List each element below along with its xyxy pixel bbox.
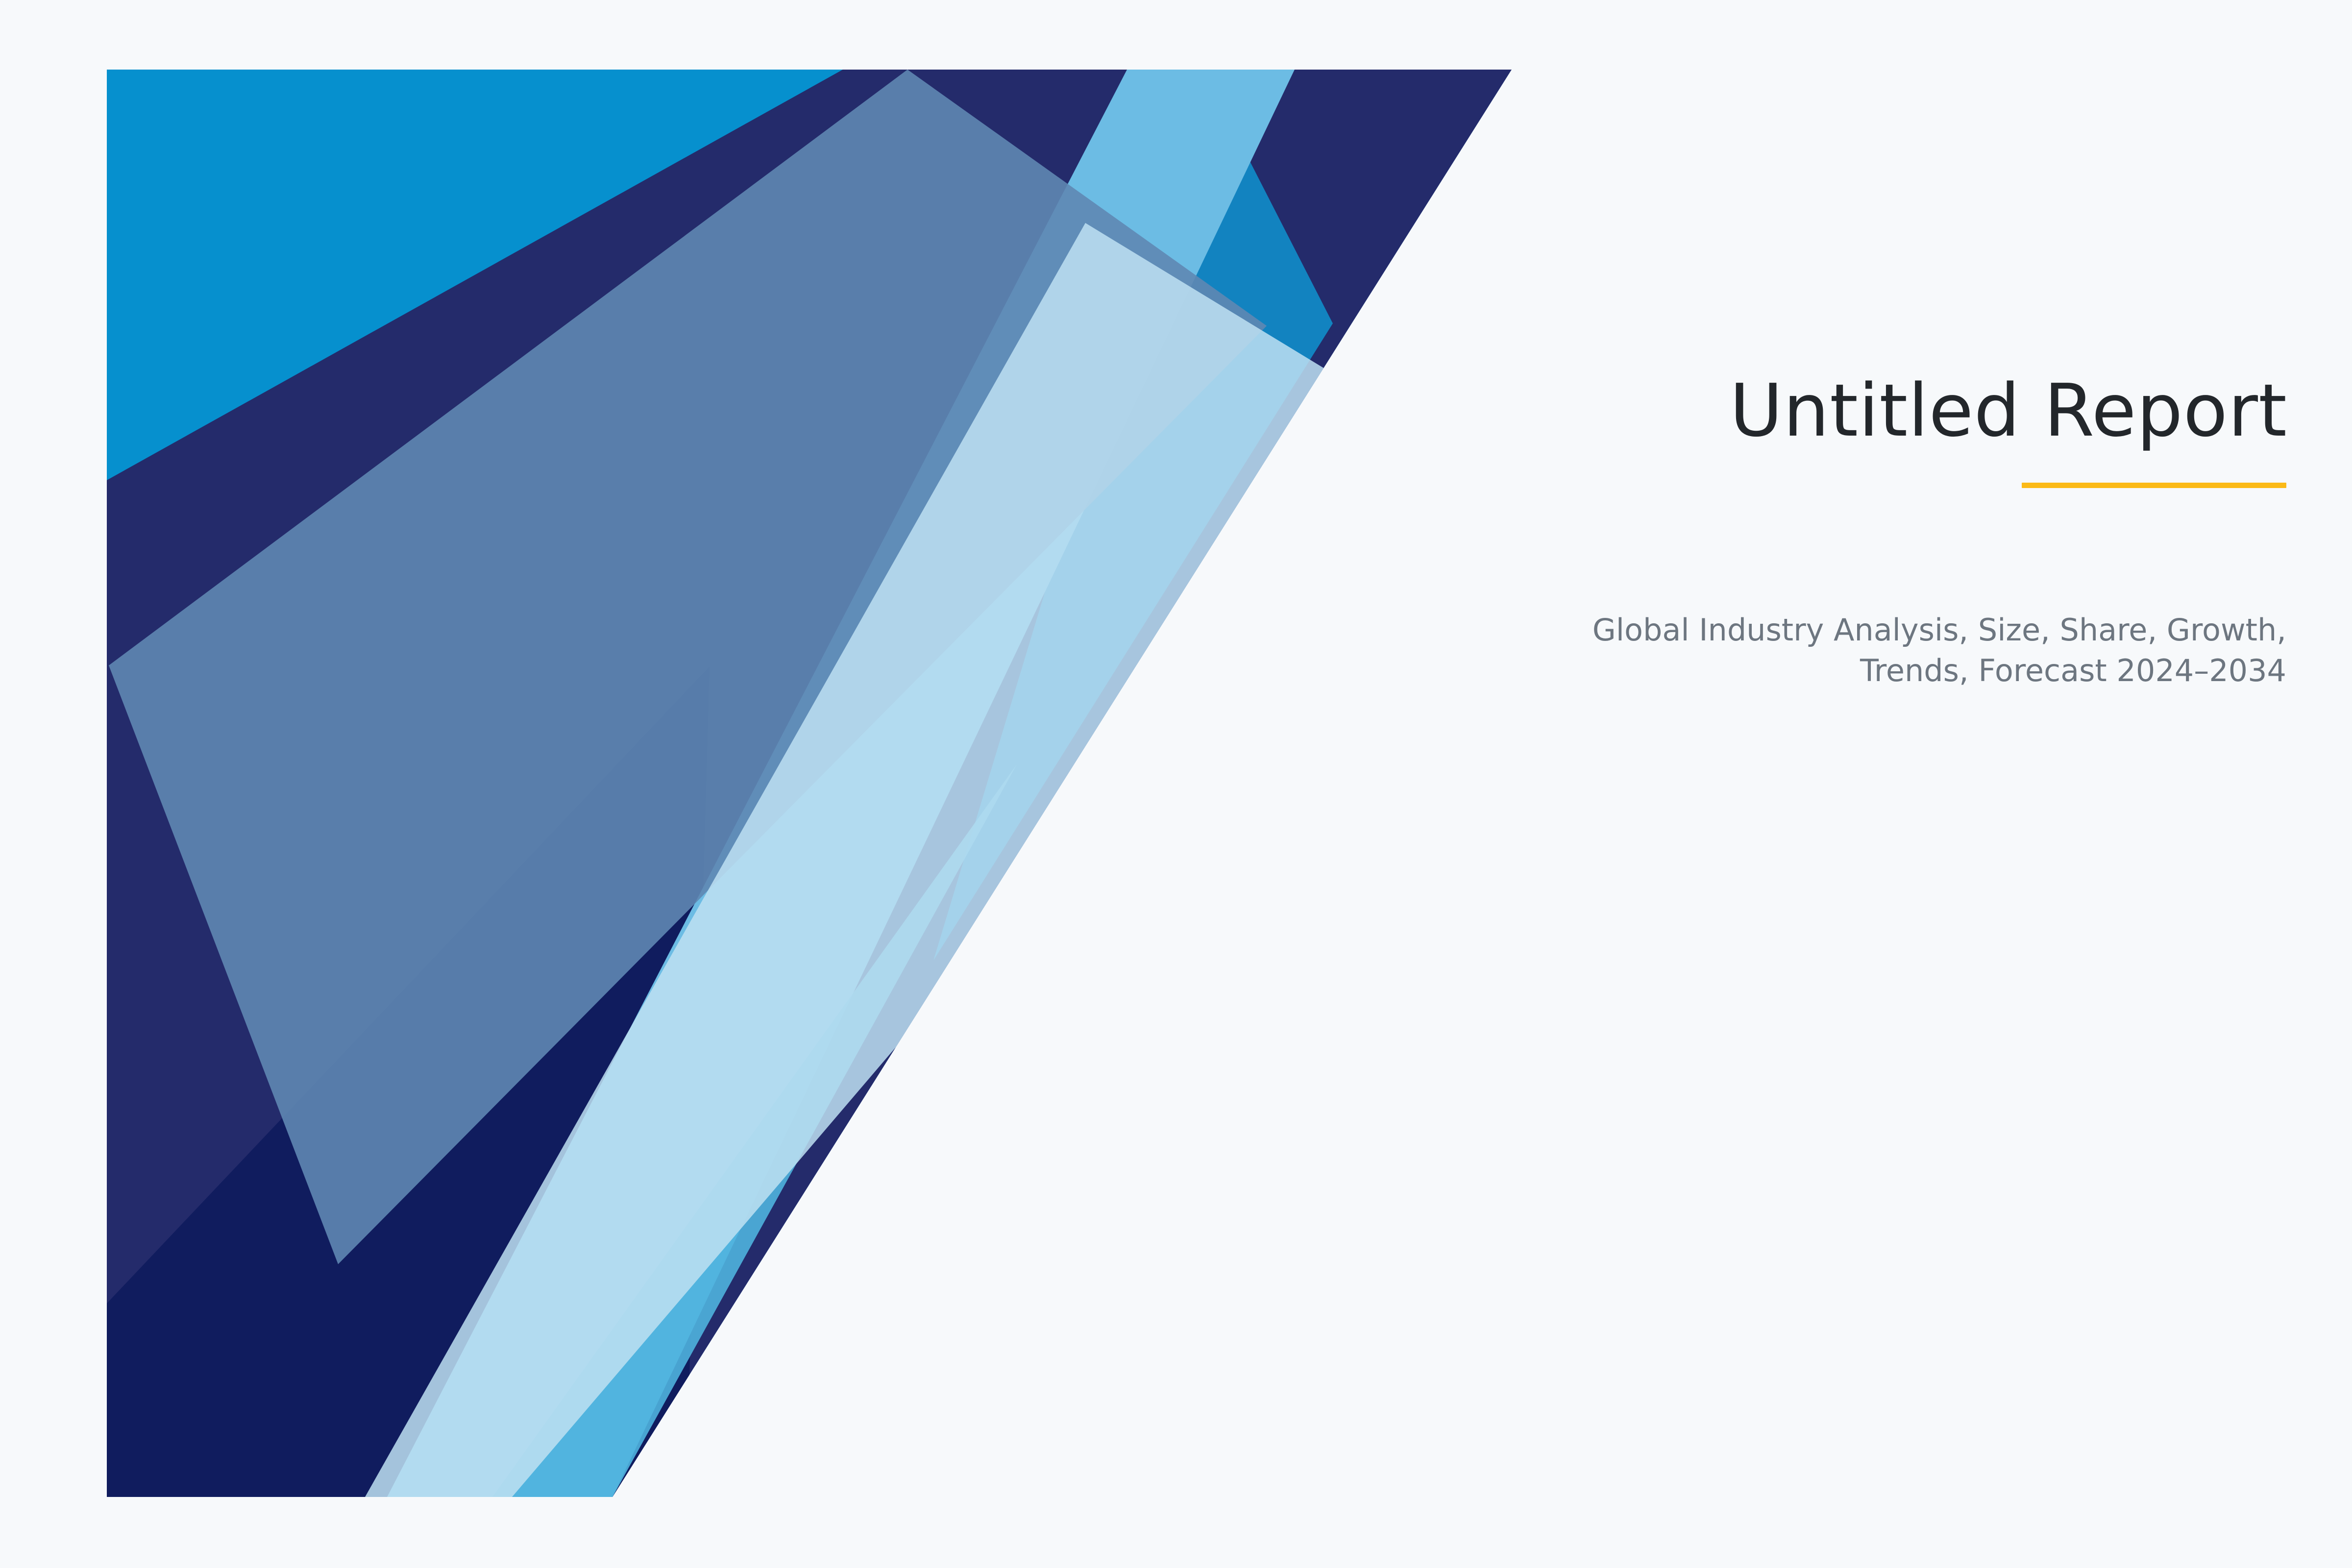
cover-text-block: Untitled Report Global Industry Analysis… — [1558, 372, 2293, 691]
report-cover-slide: Untitled Report Global Industry Analysis… — [0, 0, 2352, 1568]
accent-rule — [2022, 483, 2286, 488]
page-title: Untitled Report — [1558, 372, 2293, 449]
title-rule-wrapper — [1558, 483, 2293, 488]
report-subtitle: Global Industry Analysis, Size, Share, G… — [1558, 610, 2293, 691]
cover-artwork — [0, 0, 2352, 1568]
